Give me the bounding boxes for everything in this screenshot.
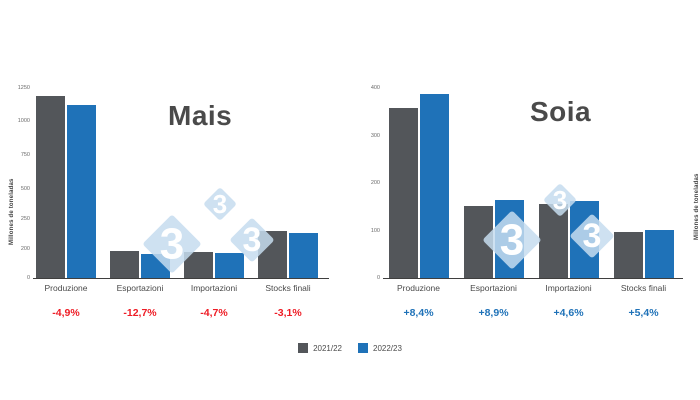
bar-mais-esportazioni-2021-22 [110,251,139,279]
bar-mais-produzione-2022-23 [67,105,96,278]
y-axis-tick-label: 750 [21,152,30,158]
y-axis-tick-label: 500 [21,186,30,192]
legend-item-2021-22[interactable]: 2021/22 [298,343,342,353]
delta-label: +8,9% [478,307,508,319]
delta-label: -4,7% [200,307,227,319]
bar-soia-stocks-finali-2022-23 [645,230,674,278]
chart-panel-soia: Millones de toneladas Soia 4003002001000… [350,0,700,340]
y-axis-tick-label: 1250 [18,85,30,91]
legend-swatch-icon [358,343,368,353]
delta-label: +8,4% [403,307,433,319]
chart-figure: Millones de toneladas Mais 1250100075050… [0,0,700,400]
y-axis-tick-label: 400 [371,85,380,91]
y-axis-tick-label: 100 [371,228,380,234]
y-axis-tick-label: 0 [377,275,380,281]
y-axis-title-mais: Millones de toneladas [9,178,15,245]
bar-mais-stocks-finali-2021-22 [258,231,287,278]
y-axis-tick-label: 1000 [18,118,30,124]
plot-area-soia: 4003002001000 [383,88,683,278]
delta-label: -4,9% [52,307,79,319]
delta-label: +4,6% [553,307,583,319]
plot-area-mais: 125010007505002502000 [33,88,329,278]
y-axis-title-soia: Millones de toneladas [694,173,700,240]
category-label: Esportazioni [470,283,517,293]
bar-soia-esportazioni-2021-22 [464,206,493,278]
category-label: Importazioni [191,283,237,293]
bar-soia-produzione-2021-22 [389,108,418,278]
y-axis-tick-label: 250 [21,216,30,222]
bar-soia-importazioni-2022-23 [570,201,599,278]
bar-mais-stocks-finali-2022-23 [289,233,318,278]
y-axis-tick-label: 200 [371,180,380,186]
chart-legend: 2021/222022/23 [0,339,700,357]
bar-mais-importazioni-2021-22 [184,252,213,278]
y-axis-tick-label: 300 [371,133,380,139]
bar-soia-importazioni-2021-22 [539,204,568,278]
bar-soia-stocks-finali-2021-22 [614,232,643,278]
category-label: Esportazioni [117,283,164,293]
y-axis-tick-label: 0 [27,275,30,281]
legend-item-2022-23[interactable]: 2022/23 [358,343,402,353]
category-label: Importazioni [545,283,591,293]
legend-label: 2021/22 [313,344,342,353]
bar-soia-produzione-2022-23 [420,94,449,278]
bar-soia-esportazioni-2022-23 [495,200,524,278]
category-label: Produzione [397,283,440,293]
bar-mais-esportazioni-2022-23 [141,254,170,278]
legend-label: 2022/23 [373,344,402,353]
delta-label: -3,1% [274,307,301,319]
legend-swatch-icon [298,343,308,353]
delta-label: -12,7% [123,307,156,319]
bar-mais-produzione-2021-22 [36,96,65,278]
chart-panel-mais: Millones de toneladas Mais 1250100075050… [0,0,350,340]
category-label: Stocks finali [621,283,666,293]
y-axis-tick-label: 200 [21,246,30,252]
category-label: Stocks finali [265,283,310,293]
delta-label: +5,4% [628,307,658,319]
bar-mais-importazioni-2022-23 [215,253,244,278]
category-label: Produzione [44,283,87,293]
